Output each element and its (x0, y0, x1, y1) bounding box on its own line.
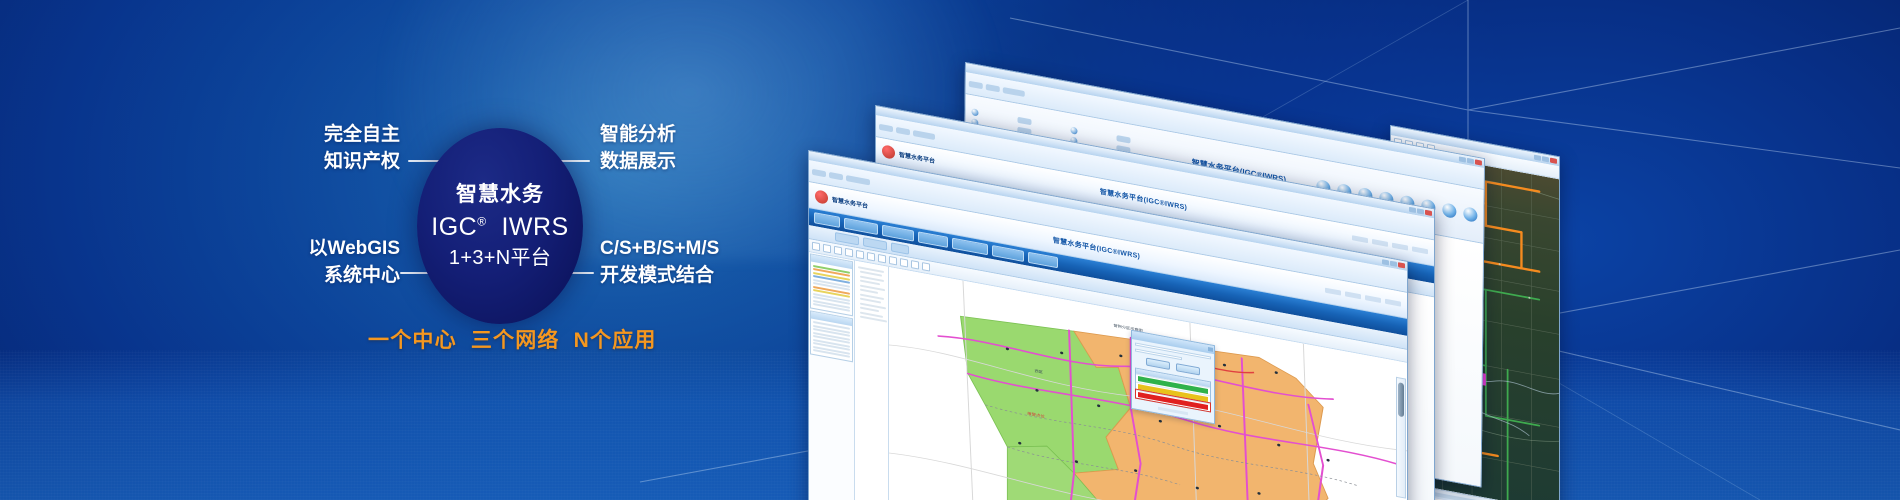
tagline-part2: 三个网络 (471, 329, 560, 352)
ribbon-tab[interactable] (986, 83, 1000, 92)
maximize-icon[interactable] (1390, 261, 1397, 267)
tagline: 一个中心三个网络N个应用 (368, 324, 657, 354)
legend-rows (811, 262, 852, 315)
center-title-en-main: IGC (431, 213, 477, 241)
ribbon-command-label (1116, 135, 1130, 144)
middle-window-brand: 智慧水务平台 (899, 149, 935, 165)
ribbon-command-label (1017, 117, 1031, 126)
center-title-en-second: IWRS (501, 213, 568, 241)
ribbon-command-icon[interactable] (1070, 127, 1077, 135)
label-top-right-line2: 数据展示 (600, 149, 676, 176)
registered-mark-icon: ® (477, 215, 486, 229)
label-bottom-left-line1: 以WebGIS (288, 236, 400, 263)
ribbon-tab[interactable] (969, 80, 983, 89)
close-icon[interactable] (1550, 158, 1557, 164)
label-bottom-left: 以WebGIS 系统中心 (288, 236, 400, 290)
menu-item[interactable] (896, 126, 910, 135)
close-icon[interactable] (1398, 262, 1405, 268)
maximize-icon[interactable] (1417, 208, 1424, 214)
dialog-cancel-button[interactable] (1176, 363, 1200, 375)
concept-diagram: 完全自主 知识产权 以WebGIS 系统中心 智能分析 数据展示 C/S+B/S… (0, 0, 820, 500)
save-icon[interactable] (834, 246, 842, 255)
layer-style-dialog[interactable] (1131, 330, 1215, 425)
label-top-left-line2: 知识产权 (300, 149, 400, 176)
brand-link[interactable] (1412, 246, 1428, 254)
brand-link[interactable] (1365, 295, 1381, 303)
maximize-icon[interactable] (1542, 156, 1549, 162)
brand-link[interactable] (1325, 288, 1341, 296)
label-top-left: 完全自主 知识产权 (300, 122, 400, 176)
ribbon-tab[interactable] (1003, 86, 1025, 96)
brand-link[interactable] (1345, 291, 1361, 299)
minimize-icon[interactable] (1459, 156, 1466, 162)
layer-tree-panel[interactable] (855, 261, 889, 500)
map-vertical-scrollbar[interactable] (1396, 377, 1406, 499)
center-title-cn: 智慧水务 (456, 183, 544, 207)
legend-block[interactable] (810, 253, 853, 315)
label-bottom-left-line2: 系统中心 (288, 263, 400, 290)
select-icon[interactable] (889, 256, 897, 265)
dialog-footer-text (1158, 407, 1188, 416)
attribute-block[interactable] (810, 310, 853, 362)
close-icon[interactable] (1475, 159, 1482, 165)
front-window-brand: 智慧水务平台 (832, 194, 868, 210)
new-icon[interactable] (812, 242, 820, 251)
menu-item-edit[interactable] (829, 171, 843, 180)
tagline-part1: 一个中心 (368, 329, 457, 352)
scrollbar-thumb[interactable] (1398, 382, 1404, 417)
minimize-icon[interactable] (1382, 259, 1389, 265)
brand-link[interactable] (1385, 299, 1401, 307)
measure-icon[interactable] (900, 258, 908, 267)
dialog-confirm-button[interactable] (1146, 358, 1170, 370)
brand-right-links[interactable] (1325, 288, 1401, 307)
zoom-in-icon[interactable] (856, 250, 864, 259)
attribute-rows (811, 318, 852, 361)
ribbon-big-icon[interactable] (1442, 202, 1456, 219)
center-ellipse: 智慧水务 IGC® IWRS 1+3+N平台 (417, 128, 583, 324)
minimize-icon[interactable] (1409, 207, 1416, 213)
tagline-part3: N个应用 (574, 329, 657, 352)
ribbon-big-icon[interactable] (1463, 206, 1477, 223)
brand-link[interactable] (1372, 239, 1388, 247)
label-bottom-right: C/S+B/S+M/S 开发模式结合 (600, 236, 719, 290)
menu-item-file[interactable] (812, 168, 826, 177)
zoom-out-icon[interactable] (867, 252, 875, 261)
dialog-close-icon[interactable] (1208, 347, 1213, 352)
banner-stage: 完全自主 知识产权 以WebGIS 系统中心 智能分析 数据展示 C/S+B/S… (0, 0, 1900, 500)
dialog-body (1132, 339, 1214, 423)
label-bottom-right-line1: C/S+B/S+M/S (600, 236, 719, 263)
close-icon[interactable] (1425, 210, 1432, 216)
brand-right-links[interactable] (1352, 235, 1428, 254)
center-title-en: IGC® IWRS (431, 213, 568, 241)
minimize-icon[interactable] (1534, 155, 1541, 161)
identify-icon[interactable] (911, 260, 919, 269)
company-logo-icon (815, 189, 828, 204)
search-icon[interactable] (922, 262, 930, 271)
subnav-tab[interactable] (835, 232, 859, 245)
ribbon-command-icon[interactable] (971, 108, 978, 116)
subnav-tab[interactable] (891, 242, 909, 254)
center-subtitle: 1+3+N平台 (449, 247, 551, 269)
layer-legend-panel[interactable] (809, 252, 855, 500)
nav-tab[interactable] (814, 212, 840, 228)
screenshot-stack: 流量监测曲线 时间轴刻度数据 (760, 0, 1900, 500)
brand-link[interactable] (1392, 243, 1408, 251)
label-top-right: 智能分析 数据展示 (600, 122, 676, 176)
label-top-left-line1: 完全自主 (300, 122, 400, 149)
label-top-right-line1: 智能分析 (600, 122, 676, 149)
menu-item[interactable] (913, 130, 935, 140)
pan-icon[interactable] (845, 248, 853, 257)
brand-link[interactable] (1352, 235, 1368, 243)
maximize-icon[interactable] (1467, 158, 1474, 164)
open-icon[interactable] (823, 244, 831, 253)
company-logo-icon (882, 144, 895, 159)
menu-item[interactable] (879, 123, 893, 132)
subnav-tab[interactable] (863, 237, 887, 250)
label-bottom-right-line2: 开发模式结合 (600, 263, 719, 290)
menu-item-view[interactable] (846, 175, 870, 185)
full-extent-icon[interactable] (878, 254, 886, 263)
